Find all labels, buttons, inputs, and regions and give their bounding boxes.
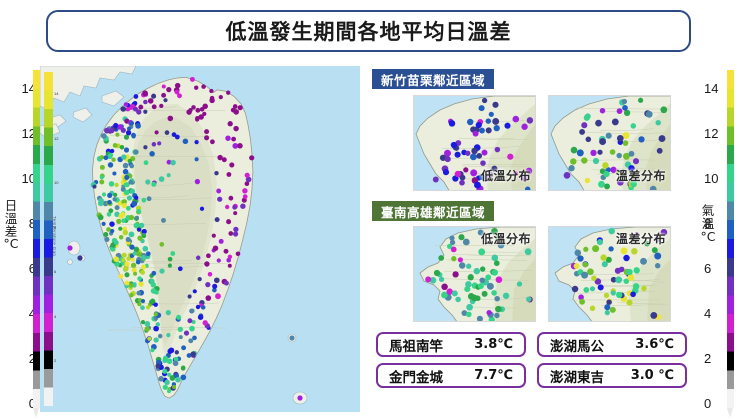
station-dot <box>170 160 176 166</box>
colorbar-tick: 4 <box>54 314 56 319</box>
station-dot <box>124 261 129 266</box>
station-dot <box>142 198 147 203</box>
station-dot <box>166 310 171 315</box>
info-box-kinmen-jincheng: 金門金城 7.7℃ <box>376 363 526 388</box>
station-dot <box>479 105 485 111</box>
station-dot <box>242 188 247 193</box>
station-dot <box>450 240 455 245</box>
station-dot <box>617 108 623 114</box>
station-dot <box>163 385 168 390</box>
station-dot <box>591 275 596 280</box>
info-box-value: 3.0 ℃ <box>631 368 674 383</box>
station-dot <box>137 276 142 281</box>
station-dot <box>491 290 497 296</box>
station-dot <box>599 138 606 145</box>
station-dot <box>193 289 197 293</box>
station-dot <box>479 128 485 134</box>
station-dot <box>489 112 494 117</box>
inset-label: 溫差分布 <box>616 230 666 247</box>
station-dot <box>170 251 175 256</box>
station-dot <box>622 99 627 104</box>
station-dot <box>196 256 200 260</box>
station-dot <box>525 248 532 255</box>
station-dot <box>626 269 632 275</box>
station-dot <box>129 244 134 249</box>
station-dot <box>191 105 196 110</box>
station-dot <box>129 283 134 288</box>
station-dot <box>581 272 588 279</box>
station-dot <box>204 129 209 134</box>
station-dot <box>232 205 237 210</box>
station-dot <box>612 118 619 125</box>
station-dot <box>203 320 208 325</box>
station-dot <box>149 151 154 156</box>
station-dot <box>226 219 231 224</box>
station-dot <box>629 151 635 157</box>
station-dot <box>455 297 461 303</box>
station-dot <box>158 334 163 339</box>
station-dot <box>572 286 578 292</box>
station-dot <box>638 136 644 142</box>
station-dot <box>623 140 629 146</box>
inset-map-hsinchu-tempgap[interactable]: 溫差分布 <box>548 95 671 191</box>
station-dot <box>470 153 477 160</box>
station-dot <box>188 338 193 343</box>
station-dot <box>155 363 160 368</box>
taiwan-map-svg <box>40 66 360 412</box>
station-dot <box>586 137 592 143</box>
station-dot <box>118 213 123 218</box>
colorbar-tick: 6 <box>54 269 56 274</box>
station-dot <box>577 255 583 261</box>
info-box-name: 澎湖馬公 <box>550 335 604 355</box>
station-dot <box>144 326 149 331</box>
station-dot <box>564 172 571 179</box>
station-dot <box>141 255 146 260</box>
station-dot <box>146 305 150 309</box>
info-box-value: 3.8℃ <box>474 337 513 352</box>
station-dot <box>204 135 209 140</box>
station-dot <box>482 150 488 156</box>
station-dot <box>141 264 146 269</box>
station-dot <box>503 293 509 299</box>
station-dot <box>608 246 613 251</box>
station-dot <box>173 360 179 366</box>
station-dot <box>568 165 574 171</box>
station-dot <box>113 123 118 128</box>
station-dot <box>527 117 533 123</box>
station-dot <box>517 281 522 286</box>
station-dot <box>146 251 151 256</box>
station-dot <box>249 155 254 160</box>
station-dot <box>128 159 132 163</box>
station-dot <box>122 203 127 208</box>
station-dot <box>119 235 124 240</box>
station-dot <box>172 132 177 137</box>
station-dot <box>100 175 104 179</box>
station-dot <box>491 254 498 261</box>
station-dot <box>590 286 595 291</box>
axis-tick: 4 <box>700 306 740 321</box>
colorbar-tick: 14 <box>54 91 58 96</box>
station-dot <box>102 192 106 196</box>
station-dot <box>611 290 616 295</box>
info-box-value: 7.7℃ <box>474 368 513 383</box>
station-dot <box>575 250 582 257</box>
station-dot <box>595 120 602 127</box>
station-dot <box>233 231 238 236</box>
station-dot <box>587 268 594 275</box>
station-dot <box>190 77 195 82</box>
station-dot <box>121 218 126 223</box>
station-dot <box>103 232 108 237</box>
station-dot <box>159 104 163 108</box>
station-dot <box>622 105 628 111</box>
station-dot <box>581 157 587 163</box>
station-dot <box>124 175 129 180</box>
station-dot <box>115 205 120 210</box>
station-dot <box>657 148 663 154</box>
station-dot <box>233 109 239 115</box>
station-dot <box>118 274 123 279</box>
station-dot <box>482 98 487 103</box>
station-dot <box>600 108 606 114</box>
station-dot <box>195 179 200 184</box>
station-dot <box>605 310 610 315</box>
station-dot <box>143 110 147 114</box>
station-dot <box>641 286 647 292</box>
station-dot <box>144 160 149 165</box>
station-dot <box>217 197 222 202</box>
station-dot <box>123 230 129 236</box>
station-dot <box>129 293 133 297</box>
station-dot <box>77 255 82 260</box>
station-dot <box>92 185 96 189</box>
station-dot <box>200 207 204 211</box>
station-dot <box>224 249 229 254</box>
station-dot <box>655 263 660 268</box>
station-dot <box>123 163 129 169</box>
station-dot <box>466 304 473 311</box>
station-dot <box>615 276 622 283</box>
station-dot <box>492 102 498 108</box>
station-dot <box>482 291 488 297</box>
station-dot <box>477 316 483 322</box>
station-dot <box>458 234 464 240</box>
station-dot <box>650 312 657 319</box>
axis-tick: 2 <box>700 351 740 366</box>
station-dot <box>485 274 491 280</box>
station-dot <box>98 215 104 221</box>
station-dot <box>152 142 157 147</box>
station-dot <box>108 162 113 167</box>
station-dot <box>592 245 599 252</box>
station-dot <box>584 115 590 121</box>
station-dot <box>151 282 156 287</box>
station-dot <box>245 173 250 178</box>
station-dot <box>633 158 639 164</box>
station-dot <box>194 86 198 90</box>
station-dot <box>166 333 170 337</box>
station-dot <box>107 212 112 217</box>
main-taiwan-map[interactable]: 2468101214 Temperature Gap <box>40 66 360 412</box>
axis-tick: 0 <box>700 396 740 411</box>
station-dot <box>486 127 492 133</box>
station-dot <box>151 271 156 276</box>
station-dot <box>467 119 473 125</box>
station-dot <box>118 227 122 231</box>
inset-label: 溫差分布 <box>616 167 666 184</box>
station-dot <box>585 178 590 183</box>
right-axis-title: 氣溫°C <box>697 205 719 243</box>
station-dot <box>180 375 186 381</box>
station-dot <box>598 284 604 290</box>
station-dot <box>526 296 532 302</box>
station-dot <box>597 150 602 155</box>
station-dot <box>606 299 611 304</box>
inset-label: 低溫分布 <box>481 230 531 247</box>
station-dot <box>164 380 170 386</box>
station-dot <box>166 87 171 92</box>
station-dot <box>660 106 667 113</box>
station-dot <box>593 158 599 164</box>
station-dot <box>181 365 185 369</box>
station-dot <box>155 290 159 294</box>
station-dot <box>626 300 632 306</box>
station-dot <box>476 122 482 128</box>
station-dot <box>150 348 154 352</box>
station-dot <box>131 134 135 138</box>
station-dot <box>124 147 129 152</box>
station-dot <box>214 277 220 283</box>
station-dot <box>631 248 638 255</box>
station-dot <box>132 251 136 255</box>
station-dot <box>652 247 658 253</box>
station-dot <box>167 349 172 354</box>
station-dot <box>201 84 206 89</box>
station-dot <box>245 181 250 186</box>
station-dot <box>243 194 248 199</box>
station-dot <box>101 133 107 139</box>
info-box-name: 馬祖南竿 <box>389 335 443 355</box>
station-dot <box>153 337 158 342</box>
station-dot <box>132 268 137 273</box>
station-dot <box>100 165 105 170</box>
station-dot <box>603 171 609 177</box>
station-dot <box>156 322 160 326</box>
station-dot <box>608 228 614 234</box>
station-dot <box>144 321 150 327</box>
station-dot <box>142 90 148 96</box>
axis-tick: 10 <box>700 171 740 186</box>
station-dot <box>496 276 503 283</box>
station-dot <box>162 84 166 88</box>
station-dot <box>617 135 624 142</box>
info-box-matsu-nangan: 馬祖南竿 3.8℃ <box>376 332 526 357</box>
inset-map-hsinchu-lowtemp[interactable]: 低溫分布 <box>413 95 536 191</box>
station-dot <box>471 148 477 154</box>
station-dot <box>571 147 578 154</box>
station-dot <box>224 281 229 286</box>
station-dot <box>480 160 486 166</box>
station-dot <box>123 183 127 187</box>
station-dot <box>471 295 478 302</box>
station-dot <box>579 129 585 135</box>
station-dot <box>112 171 116 175</box>
info-box-penghu-dongji: 澎湖東吉 3.0 ℃ <box>537 363 687 388</box>
station-dot <box>228 264 232 268</box>
station-dot <box>110 229 114 233</box>
station-dot <box>465 281 472 288</box>
station-dot <box>600 254 606 260</box>
station-dot <box>615 268 621 274</box>
station-dot <box>455 171 461 177</box>
station-dot <box>134 94 139 99</box>
station-dot <box>621 247 628 254</box>
station-dot <box>128 180 133 185</box>
station-dot <box>138 281 143 286</box>
station-dot <box>474 268 480 274</box>
station-dot <box>175 83 180 88</box>
station-dot <box>289 335 294 340</box>
station-dot <box>495 147 500 152</box>
station-dot <box>123 266 128 271</box>
station-dot <box>194 140 198 144</box>
station-dot <box>112 197 116 201</box>
station-dot <box>104 128 110 134</box>
station-dot <box>470 169 477 176</box>
station-dot <box>109 181 115 187</box>
station-dot <box>433 177 439 183</box>
station-dot <box>208 272 213 277</box>
station-dot <box>233 227 238 232</box>
station-dot <box>604 293 609 298</box>
station-dot <box>212 234 216 238</box>
station-dot <box>237 143 242 148</box>
station-dot <box>163 356 168 361</box>
station-dot <box>168 257 173 262</box>
station-dot <box>159 269 164 274</box>
station-dot <box>513 116 520 123</box>
station-dot <box>476 153 482 159</box>
station-dot <box>486 310 491 315</box>
station-dot <box>233 126 238 131</box>
station-dot <box>610 149 616 155</box>
station-dot <box>570 158 576 164</box>
station-dot <box>121 258 125 262</box>
station-dot <box>136 209 141 214</box>
left-axis-title: 日溫差°C <box>0 200 22 251</box>
station-dot <box>228 121 233 126</box>
station-dot <box>145 179 150 184</box>
station-dot <box>161 218 166 223</box>
station-dot <box>167 373 171 377</box>
station-dot <box>583 262 589 268</box>
station-dot <box>439 277 444 282</box>
station-dot <box>133 107 138 112</box>
station-dot <box>458 257 463 262</box>
station-dot <box>181 345 186 350</box>
station-dot <box>109 153 113 157</box>
inset-label: 低溫分布 <box>481 167 531 184</box>
station-dot <box>463 239 470 246</box>
station-dot <box>425 276 431 282</box>
station-dot <box>152 104 157 109</box>
station-dot <box>216 189 221 194</box>
station-dot <box>659 135 666 142</box>
station-dot <box>504 123 510 129</box>
station-dot <box>179 335 183 339</box>
station-dot <box>236 251 241 256</box>
station-dot <box>590 306 596 312</box>
station-dot <box>157 141 161 145</box>
station-dot <box>630 291 636 297</box>
station-dot <box>521 124 527 130</box>
station-dot <box>190 309 195 314</box>
station-dot <box>158 376 164 382</box>
station-dot <box>577 149 584 156</box>
station-dot <box>113 256 119 262</box>
station-dot <box>201 305 206 310</box>
station-dot <box>148 98 154 104</box>
station-dot <box>494 260 500 266</box>
station-dot <box>597 239 603 245</box>
station-dot <box>229 196 234 201</box>
station-dot <box>623 255 629 261</box>
station-dot <box>109 221 114 226</box>
station-dot <box>459 180 465 186</box>
station-dot <box>126 130 131 135</box>
station-dot <box>212 284 217 289</box>
station-dot <box>583 287 589 293</box>
station-dot <box>127 195 132 200</box>
station-dot <box>172 385 176 389</box>
station-dot <box>463 167 468 172</box>
station-dot <box>107 193 112 198</box>
station-dot <box>616 153 622 159</box>
station-dot <box>451 256 456 261</box>
station-dot <box>121 154 126 159</box>
station-dot <box>452 271 458 277</box>
station-dot <box>240 203 245 208</box>
station-dot <box>233 211 237 215</box>
station-dot <box>228 231 233 236</box>
station-dot <box>441 284 448 291</box>
station-dot <box>167 389 171 393</box>
station-dot <box>155 130 159 134</box>
station-dot <box>195 108 200 113</box>
station-dot <box>102 222 106 226</box>
inset-map-tainan-tempgap[interactable]: 溫差分布 <box>548 226 671 322</box>
station-dot <box>225 135 230 140</box>
station-dot <box>143 145 147 149</box>
station-dot <box>209 89 213 93</box>
regional-panel: 新竹苗栗鄰近區域 臺南高雄鄰近區域 低溫分布 溫差分布 低溫分布 溫差分布 <box>362 62 700 412</box>
info-box-name: 澎湖東吉 <box>550 366 604 386</box>
station-dot <box>120 145 125 150</box>
station-dot <box>479 277 485 283</box>
station-dot <box>137 227 141 231</box>
section-header-tainan-kaohsiung: 臺南高雄鄰近區域 <box>372 201 494 221</box>
station-dot <box>452 290 458 296</box>
station-dot <box>122 107 127 112</box>
station-dot <box>225 205 229 209</box>
station-dot <box>162 369 167 374</box>
station-dot <box>215 293 221 299</box>
station-dot <box>124 190 130 196</box>
inset-map-tainan-lowtemp[interactable]: 低溫分布 <box>413 226 536 322</box>
station-dot <box>486 118 492 124</box>
